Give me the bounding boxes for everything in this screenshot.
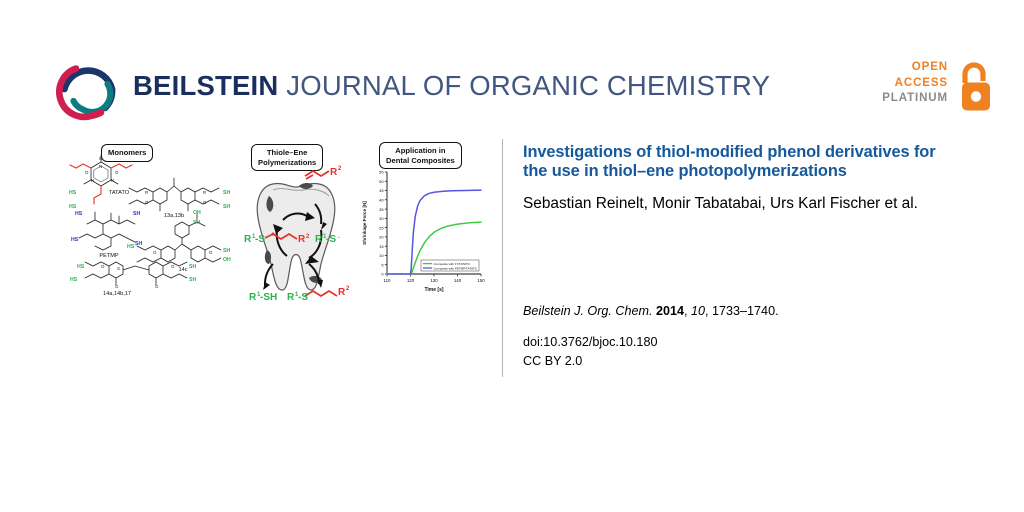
svg-text:55: 55	[379, 170, 384, 175]
citation-sep-2: ,	[705, 304, 709, 318]
svg-text:SH: SH	[193, 220, 200, 226]
open-access-badge: OPEN ACCESS PLATINUM	[884, 60, 992, 116]
svg-text:SH: SH	[133, 211, 140, 217]
open-access-label: OPEN ACCESS PLATINUM	[882, 60, 948, 107]
structure-label-13a: 13a,13b	[164, 213, 184, 219]
svg-text:HS: HS	[71, 237, 79, 243]
open-lock-icon	[956, 61, 992, 113]
svg-text:O: O	[171, 264, 175, 269]
svg-text:40: 40	[379, 198, 384, 203]
svg-text:O: O	[209, 250, 213, 255]
citation-journal: Beilstein J. Org. Chem.	[523, 304, 652, 318]
graphical-abstract: Monomers	[57, 138, 485, 308]
svg-text:150: 150	[477, 278, 485, 283]
svg-text:-S: -S	[255, 234, 265, 245]
svg-text:SH: SH	[135, 241, 142, 247]
svg-text:S: S	[117, 266, 120, 271]
svg-text:25: 25	[379, 225, 384, 230]
svg-text:50: 50	[379, 179, 384, 184]
svg-text:35: 35	[379, 207, 384, 212]
tooth-reaction-cycle-graphic: R 1 -S R 1 -S . R 1 -SH R 1 -S R2 R2 R2	[243, 138, 355, 308]
shrinkage-force-chart: 0510152025303540455055110120130140150Tim…	[357, 138, 485, 308]
svg-text:Shrinkage Force [N]: Shrinkage Force [N]	[362, 201, 367, 245]
svg-text:SH: SH	[223, 248, 230, 254]
svg-text:.: .	[338, 233, 340, 240]
svg-text:HS: HS	[77, 264, 85, 270]
svg-text:HS: HS	[127, 244, 135, 250]
abstract-panel-thiolene: Thiole–Ene Polymerizations	[243, 138, 355, 308]
svg-text:O: O	[101, 264, 105, 269]
structure-label-tatato: TATATO	[109, 190, 130, 196]
svg-text:N: N	[91, 178, 94, 183]
svg-text:5: 5	[381, 262, 384, 267]
svg-text:SH: SH	[223, 190, 230, 196]
svg-text:-S: -S	[326, 234, 336, 245]
svg-text:-S: -S	[298, 292, 308, 303]
svg-text:-SH: -SH	[260, 292, 277, 303]
vertical-divider	[502, 139, 503, 377]
svg-text:R: R	[145, 190, 148, 195]
svg-text:SH: SH	[223, 204, 230, 210]
svg-text:HS: HS	[69, 204, 77, 210]
article-license[interactable]: CC BY 2.0	[523, 352, 657, 371]
svg-text:45: 45	[379, 188, 384, 193]
open-access-line-open: OPEN	[882, 60, 948, 76]
svg-text:R: R	[315, 234, 323, 245]
svg-text:R: R	[298, 234, 306, 245]
svg-text:N: N	[111, 178, 114, 183]
citation-sep-1: ,	[684, 304, 688, 318]
svg-text:Composite with PETMP/TATATO: Composite with PETMP/TATATO	[434, 266, 478, 270]
svg-text:R: R	[203, 190, 206, 195]
svg-text:15: 15	[379, 244, 384, 249]
journal-wordmark: BEILSTEIN JOURNAL OF ORGANIC CHEMISTRY	[133, 69, 770, 103]
svg-text:140: 140	[454, 278, 462, 283]
svg-text:SH: SH	[189, 277, 196, 283]
article-doi[interactable]: doi:10.3762/bjoc.10.180	[523, 333, 657, 352]
svg-text:130: 130	[430, 278, 438, 283]
svg-text:Time [s]: Time [s]	[424, 287, 443, 293]
svg-text:O: O	[153, 250, 157, 255]
svg-text:110: 110	[384, 278, 392, 283]
abstract-panel-monomers: Monomers	[57, 138, 239, 308]
svg-text:120: 120	[407, 278, 415, 283]
svg-text:10: 10	[379, 253, 384, 258]
svg-text:N: N	[99, 164, 102, 169]
svg-text:O: O	[203, 200, 207, 205]
svg-text:Composite with 17/TATATO: Composite with 17/TATATO	[434, 262, 471, 266]
svg-text:HS: HS	[75, 211, 83, 217]
citation-year: 2014	[656, 304, 684, 318]
wordmark-beilstein: BEILSTEIN	[133, 70, 278, 101]
svg-text:R: R	[287, 292, 295, 303]
svg-text:HS: HS	[69, 190, 77, 196]
svg-text:OH: OH	[223, 257, 231, 263]
article-info: Investigations of thiol-modified phenol …	[523, 143, 963, 215]
svg-text:O: O	[99, 156, 103, 161]
open-access-line-access: ACCESS	[882, 76, 948, 92]
svg-text:2: 2	[346, 286, 350, 292]
svg-text:2: 2	[338, 166, 342, 172]
structure-label-petmp: PETMP	[99, 253, 119, 259]
svg-text:R: R	[249, 292, 257, 303]
structure-label-14c: 14c	[178, 267, 187, 273]
wordmark-journal-of-organic-chemistry: JOURNAL OF ORGANIC CHEMISTRY	[278, 70, 770, 101]
citation-pages: 1733–1740.	[712, 304, 779, 318]
svg-text:0: 0	[381, 272, 384, 277]
article-authors: Sebastian Reinelt, Monir Tabatabai, Urs …	[523, 193, 963, 215]
monomer-structures-graphic: HSSH HSSH HSSH HSSH HSSH OH OHSH HSSH HS…	[57, 138, 239, 308]
svg-text:30: 30	[379, 216, 384, 221]
svg-text:SH: SH	[189, 264, 196, 270]
svg-text:R: R	[330, 167, 338, 178]
svg-text:HS: HS	[70, 277, 78, 283]
svg-text:O: O	[115, 284, 119, 289]
svg-text:O: O	[115, 170, 119, 175]
svg-text:R: R	[338, 287, 346, 298]
svg-text:O: O	[145, 200, 149, 205]
page-header: BEILSTEIN JOURNAL OF ORGANIC CHEMISTRY O…	[0, 0, 1024, 132]
beilstein-spiral-logo	[52, 56, 124, 128]
abstract-panel-chart: Application in Dental Composites 0510152…	[357, 138, 485, 308]
article-citation: Beilstein J. Org. Chem. 2014, 10, 1733–1…	[523, 303, 779, 320]
svg-text:20: 20	[379, 235, 384, 240]
svg-text:R: R	[244, 234, 252, 245]
structure-label-14a: 14a,14b,17	[103, 291, 131, 297]
svg-text:O: O	[155, 284, 159, 289]
citation-volume: 10	[691, 304, 705, 318]
article-title[interactable]: Investigations of thiol-modified phenol …	[523, 143, 963, 182]
open-access-line-platinum: PLATINUM	[882, 91, 948, 107]
svg-text:O: O	[85, 170, 89, 175]
svg-text:OH: OH	[193, 210, 201, 216]
article-meta: doi:10.3762/bjoc.10.180 CC BY 2.0	[523, 333, 657, 370]
